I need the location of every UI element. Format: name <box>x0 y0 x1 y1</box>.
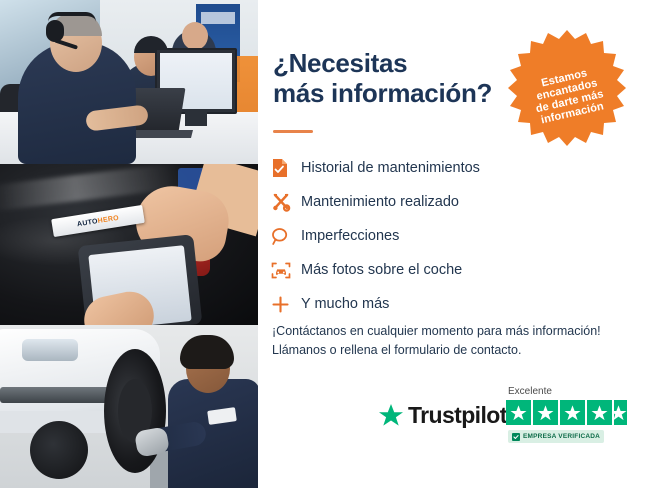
star-filled <box>560 400 585 425</box>
content-panel: ¿Necesitas más información? Estamos enca… <box>258 0 650 488</box>
feature-label: Más fotos sobre el coche <box>301 261 462 279</box>
feature-list: Historial de mantenimientos M <box>271 152 611 322</box>
star-filled <box>614 400 627 425</box>
trustpilot-logo: Trustpilot <box>378 402 507 429</box>
trustpilot-star-icon <box>378 403 404 428</box>
plus-icon <box>271 295 301 314</box>
title-underline-divider <box>273 130 313 133</box>
ruler-brand-part-b: HERO <box>97 214 119 224</box>
rear-wheel <box>30 421 88 479</box>
front-grille <box>0 387 110 403</box>
background-person-head <box>182 22 208 50</box>
contact-paragraph-line-2: Llámanos o rellena el formulario de cont… <box>272 341 642 360</box>
page-title-line-1: ¿Necesitas <box>273 48 523 78</box>
feature-label: Imperfecciones <box>301 227 399 245</box>
feature-label: Mantenimiento realizado <box>301 193 459 211</box>
trustpilot-rating-block: Trustpilot Excelente <box>378 386 650 456</box>
feature-item: Mantenimiento realizado <box>271 186 611 218</box>
ruler-brand-part-a: AUTO <box>77 218 99 228</box>
page-title: ¿Necesitas más información? <box>273 48 523 108</box>
verified-company-label: EMPRESA VERIFICADA <box>523 433 600 440</box>
verified-company-badge: EMPRESA VERIFICADA <box>508 430 604 443</box>
information-banner: AUTOHERO ¿Necesitas <box>0 0 650 488</box>
feature-label: Y mucho más <box>301 295 389 313</box>
contact-paragraph-line-1: ¡Contáctanos en cualquier momento para m… <box>272 322 642 341</box>
feature-item: Y mucho más <box>271 288 611 320</box>
car-photo-scan-icon <box>271 261 301 280</box>
technician-hair <box>180 335 234 369</box>
trustpilot-rating-label: Excelente <box>508 386 552 397</box>
verified-check-icon <box>512 433 520 441</box>
call-center-agents-photo <box>0 0 258 164</box>
trustpilot-stars <box>506 400 627 425</box>
feature-item: Historial de mantenimientos <box>271 152 611 184</box>
front-wheel <box>104 349 166 473</box>
page-title-line-2: más información? <box>273 78 523 108</box>
star-filled <box>506 400 531 425</box>
checklist-document-icon <box>271 158 301 178</box>
photo-collage: AUTOHERO <box>0 0 258 488</box>
headlight <box>22 339 78 361</box>
trustpilot-wordmark: Trustpilot <box>408 402 507 429</box>
technician-inspecting-wheel-photo <box>0 325 258 488</box>
promo-starburst-badge: Estamos encantados de darte más informac… <box>505 28 629 152</box>
feature-label: Historial de mantenimientos <box>301 159 480 177</box>
feature-item: Más fotos sobre el coche <box>271 254 611 286</box>
wrench-screwdriver-icon <box>271 192 301 212</box>
star-filled <box>533 400 558 425</box>
magnifier-icon <box>271 227 301 246</box>
star-filled <box>587 400 612 425</box>
ruler-inspection-on-car-photo: AUTOHERO <box>0 164 258 325</box>
contact-paragraph: ¡Contáctanos en cualquier momento para m… <box>272 322 642 360</box>
feature-item: Imperfecciones <box>271 220 611 252</box>
